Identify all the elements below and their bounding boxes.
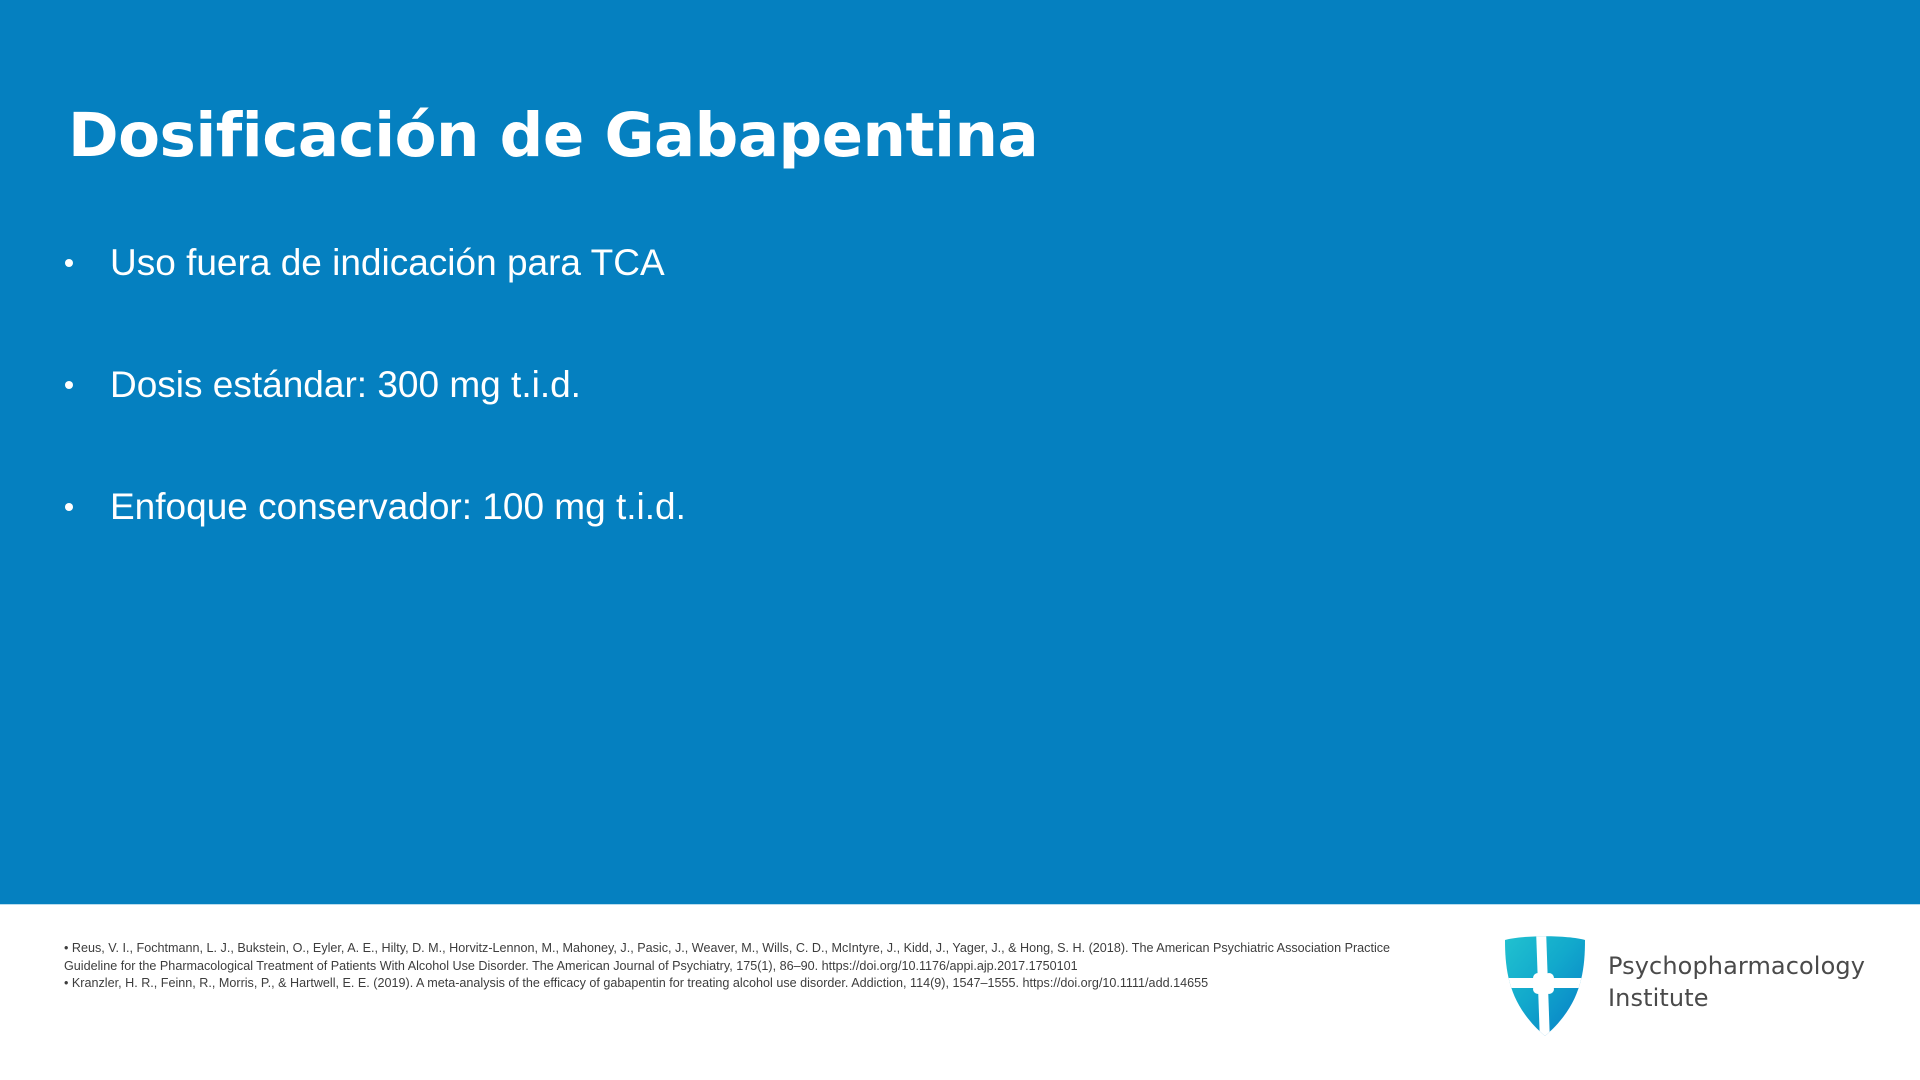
bullet-dot-icon: [65, 259, 73, 267]
page-title: Dosificación de Gabapentina: [68, 103, 1768, 169]
slide-content-panel: Dosificación de Gabapentina Uso fuera de…: [0, 0, 1920, 904]
citation-list: • Reus, V. I., Fochtmann, L. J., Bukstei…: [64, 940, 1404, 993]
brand-wordmark: Psychopharmacology Institute: [1608, 950, 1888, 1014]
list-item-label: Enfoque conservador: 100 mg t.i.d.: [110, 486, 686, 527]
bullet-dot-icon: [65, 503, 73, 511]
slide-footer: • Reus, V. I., Fochtmann, L. J., Bukstei…: [0, 904, 1920, 1080]
bullet-dot-icon: [65, 381, 73, 389]
list-item-label: Dosis estándar: 300 mg t.i.d.: [110, 364, 581, 405]
brand-name-line-2: Institute: [1608, 982, 1888, 1014]
slide: Dosificación de Gabapentina Uso fuera de…: [0, 0, 1920, 1080]
footer-divider: [0, 904, 1920, 905]
citation-reus-2018: • Reus, V. I., Fochtmann, L. J., Bukstei…: [64, 940, 1404, 975]
shield-cross-icon: [1502, 934, 1588, 1038]
list-item: Uso fuera de indicación para TCA: [62, 232, 1812, 354]
list-item: Enfoque conservador: 100 mg t.i.d.: [62, 476, 1812, 598]
citation-kranzler-2019: • Kranzler, H. R., Feinn, R., Morris, P.…: [64, 975, 1404, 993]
brand-logo: Psychopharmacology Institute: [1482, 934, 1882, 1042]
list-item-label: Uso fuera de indicación para TCA: [110, 242, 665, 283]
brand-name-line-1: Psychopharmacology: [1608, 950, 1888, 982]
bullet-list: Uso fuera de indicación para TCA Dosis e…: [62, 232, 1812, 598]
list-item: Dosis estándar: 300 mg t.i.d.: [62, 354, 1812, 476]
